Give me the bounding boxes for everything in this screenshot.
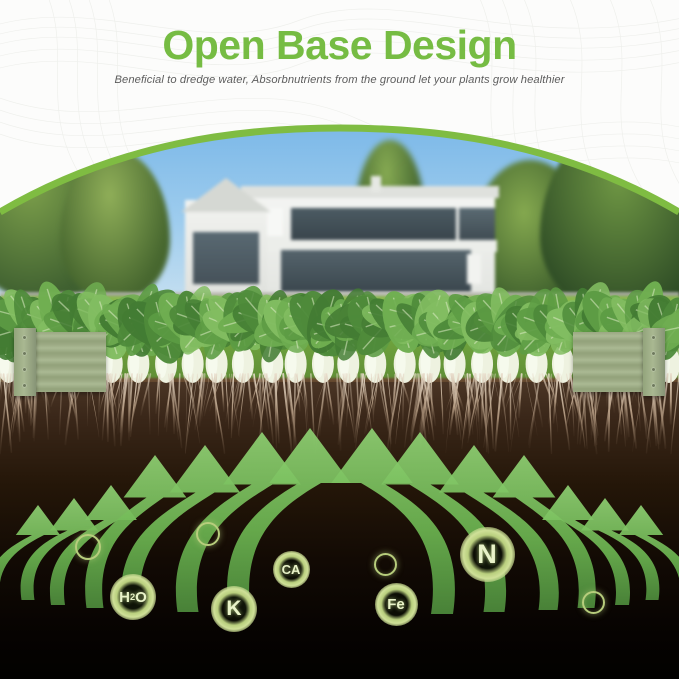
planter-screw [652,384,655,387]
planter-corner-post-left [14,328,36,396]
planter-screw [23,352,26,355]
nutrient-badge-k: K [211,586,257,632]
planter-screw [23,368,26,371]
root-strand [107,374,108,441]
root-strand [156,374,159,413]
planter-screw [652,368,655,371]
nutrient-ring [196,522,220,546]
root-strand [495,374,502,451]
root-strand [671,374,679,454]
house-upper-windows-right [459,208,495,240]
root-strand [248,374,252,419]
planter-panel-left [14,332,106,392]
page-title: Open Base Design [0,22,679,69]
root-strand [222,374,224,411]
planter-corner-post-right [643,328,665,396]
root-strand [401,374,411,410]
nutrient-badge-n: N [460,527,515,582]
root-strand [165,374,172,427]
root-strand [364,374,373,437]
house-chimney [371,176,381,192]
root-strand [0,374,1,433]
nutrient-badge-h2o: H2O [110,574,156,620]
header: Open Base Design Beneficial to dredge wa… [0,0,679,130]
root-strand [347,374,350,427]
nutrient-badge-fe: Fe [375,583,418,626]
root-strand [173,374,174,433]
planter-corrugated-panel-left [36,332,106,392]
planter-screw [23,384,26,387]
root-strand [388,374,400,448]
nutrient-ring [582,591,605,614]
root-strand [311,374,315,447]
planter-panel-right [573,332,665,392]
root-strand [501,374,508,452]
planter-corrugated-panel-right [573,332,643,392]
house-upper-windows [291,208,456,240]
planter-screw [23,336,26,339]
product-infographic: Open Base Design Beneficial to dredge wa… [0,0,679,679]
planter-screw [652,352,655,355]
page-subtitle: Beneficial to dredge water, Absorbnutrie… [0,74,679,86]
root-strand [396,374,404,444]
root-strand [118,374,120,434]
nutrient-ring [75,534,101,560]
house-gable-roof [181,178,271,212]
root-strand [441,374,444,434]
root-strand [8,374,11,403]
nutrient-badge-ca: CA [273,551,310,588]
house-roof [241,186,499,198]
root-strand [112,374,122,412]
planter-screw [652,336,655,339]
root-strand [319,374,325,435]
nutrient-ring [374,553,397,576]
